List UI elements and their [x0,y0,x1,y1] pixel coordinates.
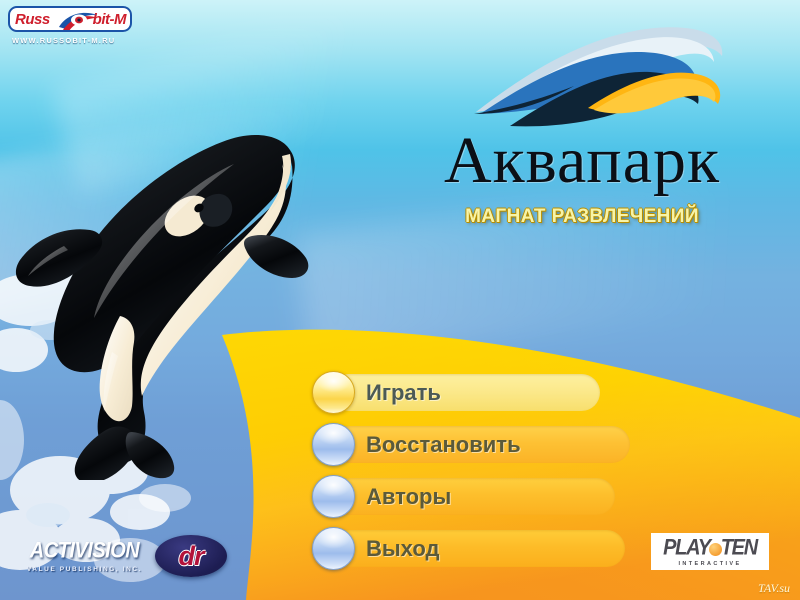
activision-subline: VALUE PUBLISHING, INC. [22,566,147,573]
menu-item-label: Авторы [366,474,451,519]
menu-orb-icon [312,423,355,466]
menu-item-credits[interactable]: Авторы [308,474,638,519]
russobit-swirl-icon [57,8,99,32]
menu-item-label: Играть [366,370,441,415]
russobit-plate: Russ bit-M [8,6,132,32]
playten-interactive-logo: PLAY TEN INTERACTIVE [651,533,769,570]
playten-word-left: PLAY [663,535,710,560]
dr-wordmark: dr [179,541,204,572]
menu-item-play[interactable]: Играть [308,370,638,415]
orca-whale-illustration [0,120,314,480]
game-main-menu-screen: Russ bit-M WWW.RUSSOBIT-M.RU Аквапарк МА… [0,0,800,600]
russobit-url: WWW.RUSSOBIT-M.RU [12,36,115,45]
menu-orb-icon [312,475,355,518]
aquapark-swoosh-emblem [470,22,730,140]
playten-subline: INTERACTIVE [678,561,741,567]
menu-item-label: Восстановить [366,422,521,467]
menu-item-restore[interactable]: Восстановить [308,422,638,467]
menu-orb-icon [312,371,355,414]
game-subtitle: МАГНАТ РАЗВЛЕЧЕНИЙ [382,206,782,228]
site-watermark: TAV.su [758,581,790,596]
main-menu: Играть Восстановить Авторы Выход [308,370,638,578]
menu-item-label: Выход [366,526,439,571]
russobit-word-left: Russ [15,11,50,28]
activision-logo: ACTIVISION VALUE PUBLISHING, INC. [22,540,147,573]
russobit-m-logo[interactable]: Russ bit-M WWW.RUSSOBIT-M.RU [8,6,132,42]
menu-item-exit[interactable]: Выход [308,526,638,571]
playten-word-right: TEN [721,535,757,560]
menu-orb-icon [312,527,355,570]
dr-logo: dr [155,535,227,577]
activision-wordmark: ACTIVISION [22,539,147,565]
game-title: Аквапарк [382,128,782,194]
